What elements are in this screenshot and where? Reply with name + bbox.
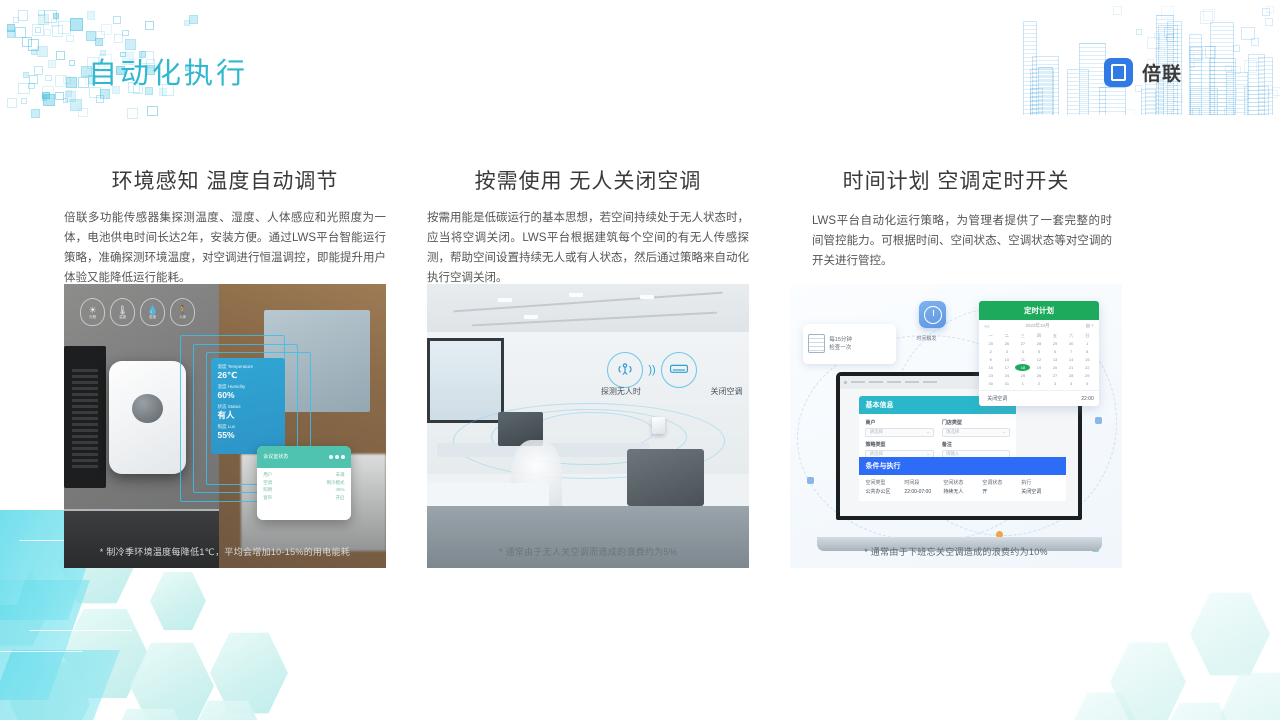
- person-icon: 🚶 人体: [170, 298, 195, 326]
- calendar-day[interactable]: 29: [1048, 340, 1063, 347]
- decor-hexagon: [0, 570, 50, 648]
- decor-hexagon: [62, 606, 148, 701]
- calendar-weekday: 日: [1080, 332, 1095, 339]
- feature-caption-3: * 通常由于下班忘关空调造成的浪费约为10%: [790, 545, 1122, 558]
- person-glyph: 🚶: [177, 305, 188, 315]
- calendar-add-button[interactable]: ▤ +: [1086, 323, 1094, 329]
- calendar-day[interactable]: 19: [1031, 364, 1046, 371]
- person-label: 人体: [179, 315, 186, 320]
- field-remark: 备注 请输入: [942, 441, 1010, 459]
- check-interval-line1: 每15分钟: [829, 336, 852, 344]
- col-space-type: 空间类型: [865, 479, 904, 488]
- feature-body-2: 按需用能是低碳运行的基本思想，若空间持续处于无人状态时，应当将空调关闭。LWS平…: [427, 208, 749, 288]
- droplet-glyph: 💧: [147, 305, 158, 315]
- calendar-day[interactable]: 30: [983, 380, 998, 387]
- decor-hexagons-bottomright: [1070, 570, 1280, 720]
- office-window: [427, 338, 504, 423]
- sensor-capability-icons: ☀ 光照 🌡 温度 💧 湿度 🚶 人体: [80, 298, 195, 326]
- decor-blade: [0, 580, 90, 700]
- clock-trigger-label: 时间触发: [910, 335, 944, 342]
- feature-column-3: 时间计划 空调定时开关 LWS平台自动化运行策略，为管理者提供了一套完整的时间管…: [790, 165, 1122, 271]
- calendar-day[interactable]: 27: [1015, 340, 1030, 347]
- col-ac-status: 空调状态: [982, 479, 1021, 488]
- sun-icon: ☀ 光照: [80, 298, 105, 326]
- feature-caption-2: * 通常由于无人关空调而造成的浪费约为5%: [427, 545, 749, 558]
- thermometer-glyph: 🌡: [117, 305, 128, 315]
- calendar-day[interactable]: 26: [999, 340, 1014, 347]
- status-row-key: 空调: [263, 479, 272, 487]
- calendar-day[interactable]: 25: [1015, 372, 1030, 379]
- calendar-month-label: 2023年10月: [1026, 323, 1050, 329]
- calendar-day[interactable]: 25: [983, 340, 998, 347]
- sun-label: 光照: [89, 315, 96, 320]
- window-dots-icon: [329, 455, 345, 459]
- field-merchant-label: 商户: [865, 419, 933, 426]
- multi-sensor-device: [109, 361, 186, 475]
- field-strategy-type-label: 策略类型: [865, 441, 933, 448]
- document-search-icon: [808, 334, 825, 353]
- air-conditioner-icon: [661, 352, 697, 388]
- baseline-trim: [64, 509, 219, 511]
- calendar-day[interactable]: 2: [983, 348, 998, 355]
- field-store-type-label: 门店类型: [942, 419, 1010, 426]
- cell-space-type: 公共办公区: [865, 488, 904, 497]
- calendar-day[interactable]: 2: [1031, 380, 1046, 387]
- status-row-value: 45%: [336, 486, 345, 494]
- table-row: 公共办公区 22:00-07:00 持续无人 开 关闭空调: [865, 488, 1060, 497]
- decor-dot-blue: [1095, 417, 1102, 424]
- calendar-day[interactable]: 11: [1015, 356, 1030, 363]
- label-detect-vacant: 探测无人时: [601, 386, 641, 397]
- calendar-prev-button[interactable]: <<: [984, 324, 989, 329]
- check-interval-line2: 检查一次: [829, 344, 852, 352]
- ceiling-lamp: [498, 298, 512, 302]
- decor-hexagon: [104, 706, 196, 720]
- status-card-header: 会议室状态: [257, 446, 350, 468]
- thermometer-icon: 🌡 温度: [110, 298, 135, 326]
- decor-hexagon: [130, 640, 214, 720]
- occupancy-sensor-device: [652, 417, 665, 434]
- ceiling-lamp: [640, 295, 654, 299]
- condition-execution-panel: 条件与执行 空间类型 时间段 空间状态 空调状态 执行 公共办公区 22:00-…: [859, 457, 1066, 501]
- feature-column-2: 按需使用 无人关闭空调 按需用能是低碳运行的基本思想，若空间持续处于无人状态时，…: [427, 165, 749, 288]
- decor-hexagon: [10, 660, 90, 720]
- wall-vent: [72, 369, 98, 468]
- schedule-entry[interactable]: 关闭空调 22:00: [979, 390, 1099, 406]
- status-row-key: 窗帘: [263, 494, 272, 502]
- decor-hexagon: [1110, 640, 1186, 720]
- condition-execution-title: 条件与执行: [859, 457, 1066, 475]
- calendar-day[interactable]: 20: [1048, 364, 1063, 371]
- ceiling-lamp: [524, 315, 538, 319]
- calendar-day[interactable]: 18: [1015, 364, 1030, 371]
- decor-blade-outline: [0, 630, 132, 720]
- calendar-day[interactable]: 26: [1031, 372, 1046, 379]
- col-time-range: 时间段: [904, 479, 943, 488]
- ceiling-lamp: [569, 293, 583, 297]
- calendar-day[interactable]: 5: [1080, 380, 1095, 387]
- desk-monitor-2: [627, 449, 704, 506]
- calendar-day[interactable]: 31: [999, 380, 1014, 387]
- calendar-day[interactable]: 3: [999, 348, 1014, 355]
- decor-hexagon: [1220, 670, 1280, 720]
- feature-body-3: LWS平台自动化运行策略，为管理者提供了一套完整的时间管控能力。可根据时间、空间…: [790, 211, 1112, 271]
- calendar-day[interactable]: 16: [983, 364, 998, 371]
- calendar-day[interactable]: 1: [1080, 340, 1095, 347]
- sensor-action-labels: 探测无人时 关闭空调: [601, 386, 743, 397]
- human-sensor-icon: [607, 352, 643, 388]
- schedule-entry-time: 22:00: [1081, 396, 1094, 402]
- readout-label-lux: 照度 Lux: [218, 424, 278, 430]
- status-row-value: 未满: [336, 471, 345, 479]
- feature-heading-1: 环境感知 温度自动调节: [64, 165, 386, 195]
- calendar-weekday: 五: [1048, 332, 1063, 339]
- feature-column-1: 环境感知 温度自动调节 倍联多功能传感器集探测温度、湿度、人体感应和光照度为一体…: [64, 165, 386, 288]
- droplet-icon: 💧 湿度: [140, 298, 165, 326]
- page-title: 自动化执行: [88, 50, 248, 92]
- calendar-day[interactable]: 24: [999, 372, 1014, 379]
- decor-hexagon: [1160, 700, 1238, 720]
- calendar-day[interactable]: 13: [1048, 356, 1063, 363]
- calendar-day[interactable]: 30: [1064, 340, 1079, 347]
- check-interval-tag: 每15分钟 检查一次: [803, 324, 896, 364]
- brand-name: 倍联: [1142, 59, 1182, 86]
- calendar-weekday: 一: [983, 332, 998, 339]
- readout-value-humidity: 60%: [218, 390, 278, 401]
- sensor-lens-icon: [132, 394, 163, 424]
- col-space-status: 空间状态: [943, 479, 982, 488]
- field-store-type-select[interactable]: 请选择 ⌄: [942, 428, 1010, 437]
- field-strategy-type: 策略类型 请选择 ⌄: [865, 441, 933, 459]
- calendar-weekday: 三: [1015, 332, 1030, 339]
- chevron-down-icon: ⌄: [1003, 429, 1007, 435]
- schedule-title: 定时计划: [979, 301, 1099, 320]
- field-remark-label: 备注: [942, 441, 1010, 448]
- field-store-type: 门店类型 请选择 ⌄: [942, 419, 1010, 437]
- schedule-entry-name-wrap: 关闭空调: [984, 395, 1007, 402]
- calendar-day[interactable]: 28: [1064, 372, 1079, 379]
- calendar-day[interactable]: 28: [1031, 340, 1046, 347]
- thermometer-label: 温度: [119, 315, 126, 320]
- calendar-day[interactable]: 14: [1064, 356, 1079, 363]
- calendar-weekday: 六: [1064, 332, 1079, 339]
- feature-heading-2: 按需使用 无人关闭空调: [427, 165, 749, 195]
- status-card-rows: 用户 未满 空调 制冷模式 照明 45% 窗帘 开启: [257, 468, 350, 504]
- feature-image-2: )) 探测无人时 关闭空调 * 通常由于无人关空调而造成的浪费约为5%: [427, 284, 749, 568]
- field-merchant: 商户 请选择 ⌄: [865, 419, 933, 437]
- decor-hexagon: [1190, 590, 1270, 678]
- feature-body-1: 倍联多功能传感器集探测温度、湿度、人体感应和光照度为一体，电池供电时间长达2年，…: [64, 208, 386, 288]
- decor-blade: [0, 510, 50, 605]
- feature-heading-3: 时间计划 空调定时开关: [790, 165, 1122, 195]
- label-turn-off-ac: 关闭空调: [711, 386, 743, 397]
- readout-value-lux: 55%: [218, 430, 278, 441]
- schedule-entry-name: 关闭空调: [987, 396, 1007, 402]
- calendar-day[interactable]: 4: [1064, 380, 1079, 387]
- calendar-day[interactable]: 6: [1048, 348, 1063, 355]
- calendar-day[interactable]: 8: [1080, 348, 1095, 355]
- readout-label-temp: 温度 Temperature: [218, 364, 278, 370]
- meeting-room-status-card: 会议室状态 用户 未满 空调 制冷模式 照明 45% 窗帘 开启: [257, 446, 350, 520]
- calendar-day[interactable]: 3: [1048, 380, 1063, 387]
- cell-time-range: 22:00-07:00: [904, 488, 943, 497]
- calendar-day[interactable]: 4: [1015, 348, 1030, 355]
- calendar-day[interactable]: 15: [1080, 356, 1095, 363]
- field-store-type-placeholder: 请选择: [946, 429, 960, 435]
- feature-caption-1: * 制冷季环境温度每降低1℃，平均会增加10-15%的用电能耗: [64, 545, 386, 558]
- calendar-toolbar: << 2023年10月 ▤ +: [979, 320, 1099, 332]
- calendar-day[interactable]: 1: [1015, 380, 1030, 387]
- decor-hexagon: [150, 570, 206, 632]
- decor-hexagon: [188, 698, 268, 720]
- condition-execution-table: 空间类型 时间段 空间状态 空调状态 执行 公共办公区 22:00-07:00 …: [859, 475, 1066, 501]
- decor-blade: [0, 650, 120, 720]
- sensor-action-icons: )): [607, 352, 696, 388]
- feature-image-1: ☀ 光照 🌡 温度 💧 湿度 🚶 人体 温度 Temperature 26℃ 湿…: [64, 284, 386, 568]
- schedule-panel: 定时计划 << 2023年10月 ▤ + 一二三四五六日252627282930…: [979, 301, 1099, 406]
- readout-label-status: 状态 Status: [218, 404, 278, 410]
- calendar-day[interactable]: 7: [1064, 348, 1079, 355]
- calendar-grid[interactable]: 一二三四五六日252627282930123456789101112131415…: [979, 332, 1099, 390]
- status-row: 照明 45%: [263, 486, 344, 494]
- calendar-weekday: 二: [999, 332, 1014, 339]
- calendar-day[interactable]: 9: [983, 356, 998, 363]
- alarm-clock-icon: [919, 301, 946, 328]
- chevron-down-icon: ⌄: [926, 429, 930, 435]
- readout-value-status: 有人: [218, 410, 278, 421]
- droplet-label: 湿度: [149, 315, 156, 320]
- status-row: 窗帘 开启: [263, 494, 344, 502]
- status-card-title: 会议室状态: [263, 453, 288, 460]
- decor-hexagon: [1070, 690, 1140, 720]
- calendar-weekday: 四: [1031, 332, 1046, 339]
- brand-logo: 倍联: [1104, 58, 1182, 87]
- status-row: 空调 制冷模式: [263, 479, 344, 487]
- decor-dot-blue: [807, 477, 814, 484]
- calendar-day[interactable]: 5: [1031, 348, 1046, 355]
- status-row-value: 开启: [336, 494, 345, 502]
- calendar-day[interactable]: 23: [983, 372, 998, 379]
- rounded-square-logo-icon: [1104, 58, 1133, 87]
- calendar-day[interactable]: 27: [1048, 372, 1063, 379]
- cell-action: 关闭空调: [1021, 488, 1060, 497]
- calendar-day[interactable]: 12: [1031, 356, 1046, 363]
- check-interval-text: 每15分钟 检查一次: [829, 336, 852, 352]
- table-header-row: 空间类型 时间段 空间状态 空调状态 执行: [865, 479, 1060, 488]
- calendar-day[interactable]: 29: [1080, 372, 1095, 379]
- readout-label-humidity: 湿度 Humidity: [218, 384, 278, 390]
- foreground-desk: [427, 506, 749, 568]
- cell-ac-status: 开: [982, 488, 1021, 497]
- signal-wave-icon: )): [648, 364, 655, 376]
- floor-strip: [64, 511, 219, 568]
- sun-glyph: ☀: [89, 305, 97, 315]
- cell-space-status: 持续无人: [943, 488, 982, 497]
- decor-hexagon: [210, 630, 288, 716]
- status-row-key: 用户: [263, 471, 272, 479]
- status-row-key: 照明: [263, 486, 272, 494]
- feature-image-3: 每15分钟 检查一次 时间触发 基本信息 商户 请选择 ⌄: [790, 284, 1122, 568]
- field-merchant-select[interactable]: 请选择 ⌄: [865, 428, 933, 437]
- calendar-day[interactable]: 10: [999, 356, 1014, 363]
- col-action: 执行: [1021, 479, 1060, 488]
- status-row-value: 制冷模式: [327, 479, 345, 487]
- calendar-day[interactable]: 21: [1064, 364, 1079, 371]
- field-merchant-placeholder: 请选择: [869, 429, 883, 435]
- status-row: 用户 未满: [263, 471, 344, 479]
- sensor-readout-card: 温度 Temperature 26℃ 湿度 Humidity 60% 状态 St…: [211, 358, 285, 455]
- calendar-day[interactable]: 17: [999, 364, 1014, 371]
- calendar-day[interactable]: 22: [1080, 364, 1095, 371]
- readout-value-temp: 26℃: [218, 370, 278, 381]
